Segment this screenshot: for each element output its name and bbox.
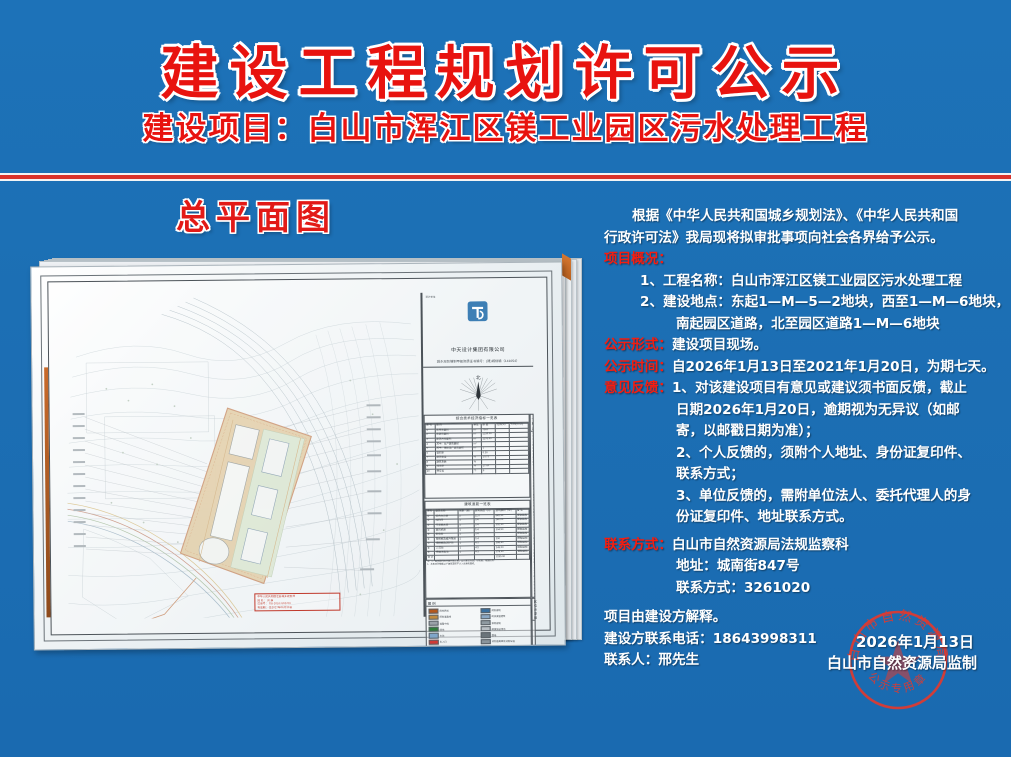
table-cell: 合 计 xyxy=(426,556,434,561)
building-setback-table-body: 序号建筑名称层数（层）建筑高度（m）建筑面积（m²）备 注①综合办公楼211.0… xyxy=(426,509,530,561)
preamble-line-2: 行政许可法》我局现将拟审批事项向社会各界给予公示。 xyxy=(604,228,1002,250)
legend-swatch-icon xyxy=(428,645,438,650)
feedback-item-1-line-2: 日期2026年1月20日，逾期视为无异议（如邮 xyxy=(604,400,1002,422)
notes-section1-title: 一、概述 xyxy=(531,415,533,432)
legend-item-label: 围墙 xyxy=(492,633,497,637)
overview-label: 项目概况： xyxy=(604,249,1002,271)
legend-item: 道路中心线 xyxy=(480,645,529,651)
overview-item-1: 1、工程名称：白山市浑江区镁工业园区污水处理工程 xyxy=(604,271,1002,293)
drawing-frame-inner: 中华人民共和国注册城乡规划师 姓 名： 刘 娟 注册号： GB-2016J102… xyxy=(47,277,550,636)
publicity-time-value: 自2026年1月13日至2021年1月20日，为期七天。 xyxy=(672,357,1002,379)
legend-swatch-icon xyxy=(428,639,438,644)
table-row: 10停车位个6 xyxy=(426,469,529,475)
table-cell xyxy=(459,555,475,560)
contact-phone: 联系方式：3261020 xyxy=(604,578,1002,600)
publicity-form-label: 公示形式： xyxy=(604,335,672,357)
site-plan-heading: 总平面图 xyxy=(176,190,336,239)
publicity-time-label: 公示时间： xyxy=(604,357,672,379)
map-plan-area[interactable]: 中华人民共和国注册城乡规划师 姓 名： 刘 娟 注册号： GB-2016J102… xyxy=(65,294,422,619)
economic-indicators-table: 综合技术经济指标一览表 序 号项 目单位数 量比例(%)人均(m²/人)1总用地… xyxy=(424,414,531,499)
table-cell: 停车位 xyxy=(436,469,473,474)
building-setback-table: 建筑退距一览表 序号建筑名称层数（层）建筑高度（m）建筑面积（m²）备 注①综合… xyxy=(424,500,531,599)
legend-item: 规划道路线 xyxy=(428,614,477,620)
qualification-stamp: 城乡规划编制甲级资质证书编号 (建)城规编（141054） xyxy=(426,648,532,651)
table-cell: 个 xyxy=(473,469,482,474)
economic-indicators-table-body: 序 号项 目单位数 量比例(%)人均(m²/人)1总用地面积m²75m²2总建筑… xyxy=(425,423,529,475)
registered-planner-stamp: 中华人民共和国注册城乡规划师 姓 名： 刘 娟 注册号： GB-2016J102… xyxy=(254,593,340,612)
table-cell xyxy=(516,555,529,560)
legend-swatch-icon xyxy=(480,608,490,613)
feedback-item-1-line-1: 1、对该建设项目有意见或建议须书面反馈，截止 xyxy=(672,378,1002,400)
poster-header: 建设工程规划许可公示 建设项目：白山市浑江区镁工业园区污水处理工程 xyxy=(0,0,1011,174)
legend-item: 围墙 xyxy=(480,632,529,638)
contact-address: 地址：城南街847号 xyxy=(604,556,1002,578)
certificate-number: 城乡规划编制甲级资质证书编号：(建)城规编（141054） xyxy=(423,358,533,364)
table-cell xyxy=(496,469,510,474)
legend-item-label: 硬质铺装场地 xyxy=(492,627,506,631)
design-unit-label: 设计单位 xyxy=(425,296,435,299)
publicity-form-value: 建设项目现场。 xyxy=(672,335,1002,357)
legend-item: 绿地 xyxy=(428,627,477,633)
location-key-map-graphic: 本项目位置 xyxy=(533,621,535,651)
table-cell: 10 xyxy=(426,469,436,474)
legend-item: 用地界线 xyxy=(428,608,477,614)
drawing-signature-block: 建设单位白山市浑江区镁工业园区管理委员会工程名称白山市浑江区镁工业园区污水处理工… xyxy=(532,646,536,648)
overview-item-2-line-1: 2、建设地点：东起1—M—5—2地块，西至1—M—6地块， xyxy=(604,292,1002,314)
signature-key: 建设单位 xyxy=(533,647,539,650)
site-plan-section: 总平面图 xyxy=(16,190,591,660)
overview-item-2-line-2: 南起园区道路，北至园区道路1—M—6地块 xyxy=(604,314,1002,336)
legend-item-label: 用地界线 xyxy=(439,609,448,613)
title-block-company-area: 设计单位 中天设计集团有限公司 城乡规划编制甲级资质证书编号：(建)城规编（14… xyxy=(422,292,533,368)
feedback-item-1-line-3: 寄，以邮戳日期为准）； xyxy=(604,421,1002,443)
legend-swatch-icon xyxy=(480,639,490,644)
feedback-item-2-line-2: 联系方式； xyxy=(604,464,1002,486)
table-cell: 6 xyxy=(482,469,496,474)
table-cell: 2235.90 xyxy=(495,555,517,560)
feedback-label: 意见反馈： xyxy=(604,378,672,400)
legend-item-label: 规划建筑 xyxy=(491,608,500,612)
legend-item-label: 停车位 xyxy=(440,646,447,650)
paper-stack-edge-icon xyxy=(562,253,571,280)
legend-item-label: 水池 xyxy=(440,634,445,638)
legend-item-label: 绿地 xyxy=(440,627,445,631)
legend-item: 停车位 xyxy=(428,645,477,650)
table-cell xyxy=(474,555,495,560)
contact-label: 联系方式： xyxy=(604,535,672,557)
publish-date: 2026年1月13日 xyxy=(856,631,974,652)
poster-background: 建设工程规划许可公示 建设项目：白山市浑江区镁工业园区污水处理工程 总平面图 xyxy=(0,0,1011,757)
legend-swatch-icon xyxy=(428,621,438,626)
legend-swatch-icon xyxy=(428,615,438,620)
company-logo-icon xyxy=(467,300,489,322)
notes-section1-body: 1.项目名称：白山市浑江区镁工业园区污水处理工程 2.建设地点：白山市浑江区镁工… xyxy=(531,432,536,598)
feedback-item-3-line-2: 份证复印件、地址联系方式。 xyxy=(604,507,1002,529)
legend-swatch-icon xyxy=(480,645,490,650)
legend-swatch-icon xyxy=(480,614,490,619)
drawing-sheet-stack: 中华人民共和国注册城乡规划师 姓 名： 刘 娟 注册号： GB-2016J102… xyxy=(26,246,586,646)
table-cell xyxy=(510,469,529,474)
feedback-item-2-line-1: 2、个人反馈的，须附个人地址、身份证复印件、 xyxy=(604,443,1002,465)
legend-item-label: 现状保留建筑 xyxy=(492,614,506,618)
legend-item: 道路中线 xyxy=(428,620,477,626)
legend-swatch-icon xyxy=(428,633,438,638)
table-cell xyxy=(435,555,459,560)
topography-contours-icon xyxy=(65,294,422,619)
legend-item: 规划建筑 xyxy=(480,607,529,613)
legend-item: 消防登高面及消防车道 xyxy=(480,638,529,644)
legend-items: 用地界线规划建筑规划道路线现状保留建筑道路中线拆除建筑绿地硬质铺装场地水池围墙出… xyxy=(426,606,530,651)
svg-text:北: 北 xyxy=(476,374,481,381)
signature-row: 建设单位白山市浑江区镁工业园区管理委员会 xyxy=(533,647,565,651)
drawing-title-block: 设计单位 中天设计集团有限公司 城乡规划编制甲级资质证书编号：(建)城规编（14… xyxy=(422,292,535,617)
legend-item: 水池 xyxy=(428,633,477,639)
legend-swatch-icon xyxy=(428,627,438,632)
legend-item: 现状保留建筑 xyxy=(480,614,529,620)
legend-item: 硬质铺装场地 xyxy=(480,626,529,632)
header-divider xyxy=(0,173,1011,181)
company-name: 中天设计集团有限公司 xyxy=(423,346,533,354)
legend-swatch-icon xyxy=(480,626,490,631)
legend-item-label: 出入口 xyxy=(440,640,447,644)
location-key-map: 区位示意图 本项目位置 xyxy=(531,598,535,646)
legend-item-label: 道路中线 xyxy=(440,621,449,625)
legend-swatch-icon xyxy=(480,633,490,638)
legend-item: 拆除建筑 xyxy=(480,620,529,626)
page-title: 建设工程规划许可公示 xyxy=(0,26,1011,110)
legend-item: 出入口 xyxy=(428,639,477,645)
legend-item-label: 规划道路线 xyxy=(440,615,452,619)
legend-swatch-icon xyxy=(428,608,438,613)
signature-value: 白山市浑江区镁工业园区管理委员会 xyxy=(539,647,549,650)
preamble-line-1: 根据《中华人民共和国城乡规划法》、《中华人民共和国 xyxy=(604,206,1002,228)
legend-item-label: 拆除建筑 xyxy=(492,621,501,625)
building-setback-footnote-2: 2、本表所列数据以下建筑面积不计入总建筑面积。 xyxy=(426,563,530,567)
legend-item-label: 道路中心线 xyxy=(492,645,504,649)
feedback-item-3-line-1: 3、单位反馈的，需附单位法人、委托代理人的身 xyxy=(604,486,1002,508)
contact-value: 白山市自然资源局法规监察科 xyxy=(672,535,1002,557)
project-subtitle: 建设项目：白山市浑江区镁工业园区污水处理工程 xyxy=(0,103,1011,148)
legend-item-label: 消防登高面及消防车道 xyxy=(492,639,515,643)
location-key-map-title: 区位示意图 xyxy=(532,599,535,621)
site-plan-drawing[interactable]: 中华人民共和国注册城乡规划师 姓 名： 刘 娟 注册号： GB-2016J102… xyxy=(30,261,566,650)
drawing-legend: 图 例 用地界线规划建筑规划道路线现状保留建筑道路中线拆除建筑绿地硬质铺装场地水… xyxy=(425,598,532,651)
legend-swatch-icon xyxy=(480,620,490,625)
svg-text:本项目位置: 本项目位置 xyxy=(534,640,535,642)
drawing-notes: 一、概述 1.项目名称：白山市浑江区镁工业园区污水处理工程 2.建设地点：白山市… xyxy=(530,414,536,598)
registered-planner-stamp-text: 中华人民共和国注册城乡规划师 姓 名： 刘 娟 注册号： GB-2016J102… xyxy=(257,595,295,609)
compass-north-icon: 北 xyxy=(455,372,501,412)
issuing-organization: 白山市自然资源局监制 xyxy=(827,652,977,673)
